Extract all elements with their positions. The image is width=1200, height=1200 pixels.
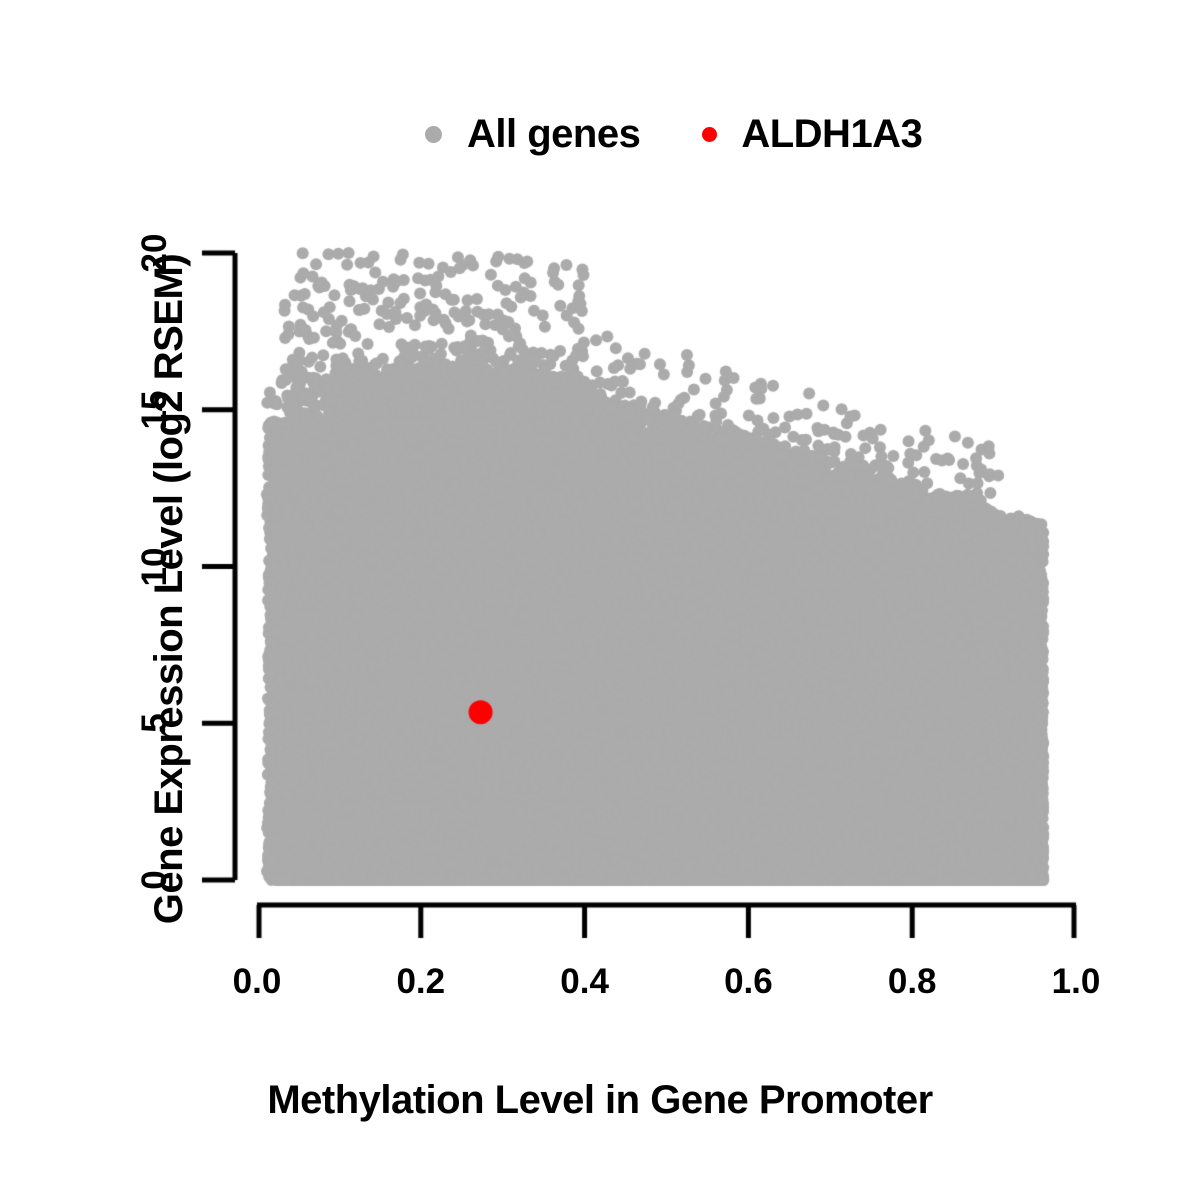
legend-marker-aldh1a3-icon [702,127,717,142]
chart-legend: All genes ALDH1A3 [425,112,922,157]
y-tick-label-container: 15 [133,350,177,470]
scatter-plot-figure: All genes ALDH1A3 Gene Expression Level … [0,0,1200,1200]
y-tick-label: 0 [135,870,175,889]
y-tick-label: 5 [135,714,175,733]
x-tick-label: 0.2 [361,962,481,1002]
x-tick-label: 0.6 [688,962,808,1002]
x-tick-label: 1.0 [1016,962,1136,1002]
y-tick-label-container: 5 [133,663,177,783]
legend-entry-aldh1a3: ALDH1A3 [702,112,922,157]
x-axis-title: Methylation Level in Gene Promoter [0,1078,1200,1123]
y-tick-label-container: 0 [133,820,177,940]
x-tick-label: 0.0 [197,962,317,1002]
y-tick-label-container: 20 [133,193,177,313]
x-tick-label: 0.4 [525,962,645,1002]
y-tick-label: 15 [135,390,175,429]
legend-entry-all-genes: All genes [425,112,640,157]
legend-label-all-genes: All genes [467,112,640,157]
x-tick-label: 0.8 [852,962,972,1002]
legend-marker-all-genes-icon [425,126,442,143]
legend-label-aldh1a3: ALDH1A3 [741,112,922,157]
y-tick-label: 20 [135,234,175,273]
y-tick-label: 10 [135,547,175,586]
y-tick-label-container: 10 [133,507,177,627]
